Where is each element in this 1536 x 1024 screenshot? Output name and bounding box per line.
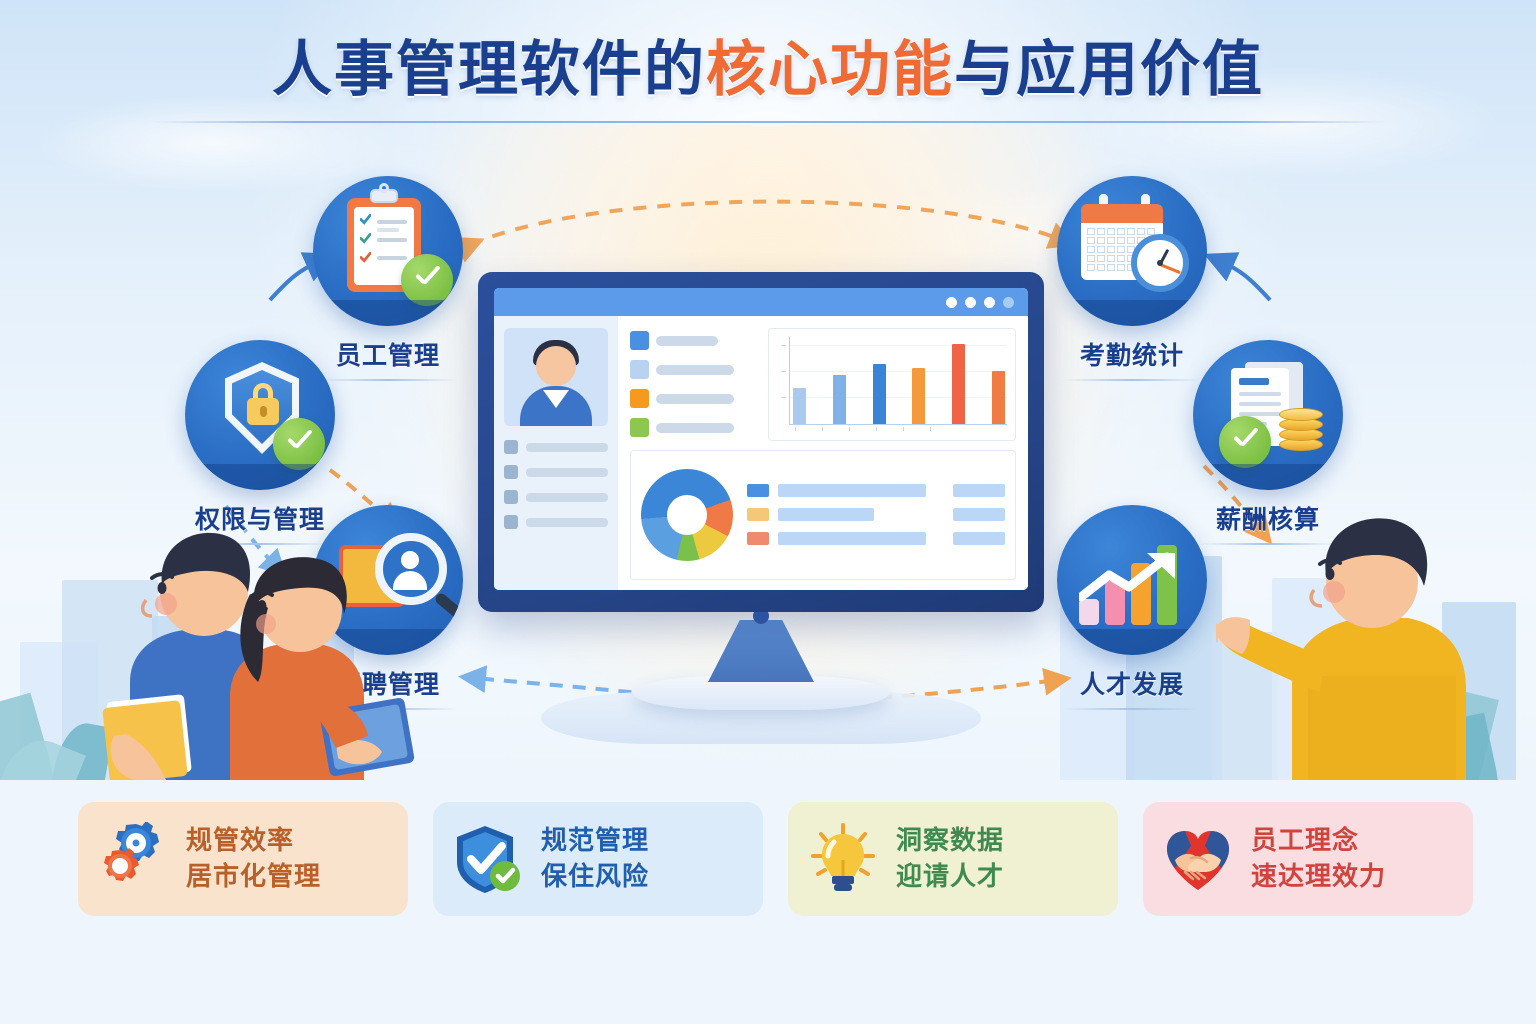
bar-2 [833,375,846,424]
legend-row-4 [630,418,758,437]
growth-bar-arrow-icon [1057,505,1207,655]
benefit-card-text: 员工理念 速达理效力 [1251,825,1386,892]
x-tick [822,427,823,431]
data-table [747,484,1005,545]
calendar-day-cell [1117,228,1125,235]
sidebar-item-label [526,443,608,452]
green-check-badge-icon [401,254,453,306]
benefit-line-2: 居市化管理 [186,861,321,893]
sidebar-item-1[interactable] [504,440,608,454]
calendar-day-cell [1117,264,1125,271]
sidebar-bullet-icon [504,465,518,479]
calendar-day-cell [1097,264,1105,271]
benefit-card-efficiency[interactable]: 规管效率 居市化管理 [78,802,408,916]
stat-legend-list [630,328,758,441]
bar-chart-y-axis [789,337,790,425]
title-highlight: 核心功能 [706,36,954,103]
row-cell-primary [778,484,926,497]
calendar-day-cell [1117,246,1125,253]
sidebar-item-4[interactable] [504,515,608,529]
bar-5 [952,344,965,423]
sidebar-item-3[interactable] [504,490,608,504]
legend-row-3 [630,389,758,408]
benefit-line-2: 保住风险 [541,861,649,893]
shield-lock-icon [185,340,335,490]
bar-chart [768,328,1016,441]
calendar-day-cell [1087,246,1095,253]
benefit-line-2: 速达理效力 [1251,861,1386,893]
title-part-2: 与应用价值 [954,36,1264,103]
person-male-yellow [1216,508,1484,788]
sidebar-bullet-icon [504,490,518,504]
row-cell-primary [778,532,926,545]
benefit-card-text: 洞察数据 迎请人才 [896,825,1004,892]
dashboard-screen [494,288,1028,590]
calendar-day-cell [1107,246,1115,253]
document-coins-icon [1193,340,1343,490]
benefit-line-2: 迎请人才 [896,861,1004,893]
avatar-head [536,346,576,386]
row-cell-primary [778,508,874,521]
monitor-stand [708,620,814,682]
legend-row-1 [630,331,758,350]
sidebar-item-label [526,468,608,477]
benefit-card-list: 规管效率 居市化管理 规范管理 保住风险 [78,802,1473,916]
legend-row-2 [630,360,758,379]
x-tick [795,427,796,431]
green-check-badge-icon [1219,416,1271,468]
window-titlebar [494,288,1028,316]
calendar-day-cell [1097,228,1105,235]
sidebar-bullet-icon [504,440,518,454]
table-row [747,508,1005,521]
calendar-day-cell [1107,264,1115,271]
benefit-card-text: 规管效率 居市化管理 [186,825,321,892]
row-cell-value [953,532,1005,545]
avatar [504,328,608,426]
legend-swatch-icon [630,389,649,408]
window-dot-1[interactable] [946,297,957,308]
calendar-day-cell [1097,255,1105,262]
legend-label [656,423,734,433]
bar-6 [992,371,1005,423]
shield-check-icon [451,822,525,896]
calendar-day-cell [1107,255,1115,262]
row-status-swatch [747,532,769,545]
benefit-line-1: 规管效率 [186,825,321,857]
benefit-card-compliance[interactable]: 规范管理 保住风险 [433,802,763,916]
row-cell-value [953,508,1005,521]
x-tick [930,427,931,431]
calendar-day-cell [1097,246,1105,253]
legend-label [656,394,734,404]
donut-chart [641,469,733,561]
page-title: 人事管理软件的核心功能与应用价值 [0,38,1536,101]
calendar-day-cell [1087,237,1095,244]
title-part-1: 人事管理软件的 [272,36,706,103]
desktop-monitor [478,272,1044,742]
table-row [747,532,1005,545]
calendar-day-cell [1087,255,1095,262]
calendar-day-cell [1087,264,1095,271]
growth-arrow-icon [1079,551,1183,603]
bar-3 [873,364,886,423]
calendar-clock-icon [1057,176,1207,326]
calendar-day-cell [1107,237,1115,244]
calendar-day-cell [1087,228,1095,235]
dashboard-body [494,316,1028,590]
calendar-day-cell [1107,228,1115,235]
benefit-line-1: 洞察数据 [896,825,1004,857]
legend-label [656,336,718,346]
benefit-card-engagement[interactable]: 员工理念 速达理效力 [1143,802,1473,916]
bar-4 [912,368,925,424]
benefit-line-1: 规范管理 [541,825,649,857]
title-block: 人事管理软件的核心功能与应用价值 [0,38,1536,123]
window-dot-4[interactable] [1003,297,1014,308]
sidebar-item-label [526,493,608,502]
sidebar-menu [504,440,608,529]
dashboard-main [618,316,1028,590]
sidebar-bullet-icon [504,515,518,529]
calendar-day-cell [1117,237,1125,244]
sidebar-item-2[interactable] [504,465,608,479]
monitor-bezel [478,272,1044,612]
person-female-orange [196,548,426,784]
dashboard-sidebar [494,316,618,590]
legend-label [656,365,734,375]
dashboard-upper-row [630,328,1016,441]
benefits-banner: 规管效率 居市化管理 规范管理 保住风险 [0,780,1536,1024]
title-divider [150,121,1386,123]
x-tick [849,427,850,431]
legend-swatch-icon [630,360,649,379]
row-status-swatch [747,484,769,497]
feature-node-label: 人才发展 [1032,665,1232,701]
dashboard-lower-row [630,450,1016,581]
legend-swatch-icon [630,418,649,437]
benefit-card-talent[interactable]: 洞察数据 迎请人才 [788,802,1118,916]
x-tick [903,427,904,431]
infographic-canvas: 人事管理软件的核心功能与应用价值 [0,0,1536,1024]
calendar-day-cell [1097,237,1105,244]
clipboard-checklist-icon [313,176,463,326]
benefit-card-text: 规范管理 保住风险 [541,825,649,892]
heart-handshake-icon [1161,822,1235,896]
gears-icon [96,822,170,896]
green-check-badge-icon [273,418,325,470]
window-dot-2[interactable] [965,297,976,308]
lightbulb-icon [806,822,880,896]
row-status-swatch [747,508,769,521]
table-row [747,484,1005,497]
calendar-day-cell [1137,228,1145,235]
row-cell-value [953,484,1005,497]
bar-chart-bars [793,339,1005,424]
sidebar-item-label [526,518,608,527]
legend-swatch-icon [630,331,649,350]
window-dot-3[interactable] [984,297,995,308]
calendar-day-cell [1117,255,1125,262]
calendar-day-cell [1127,237,1135,244]
calendar-day-cell [1127,228,1135,235]
bar-chart-x-axis [789,424,1007,425]
bar-1 [793,388,806,423]
x-tick [876,427,877,431]
benefit-line-1: 员工理念 [1251,825,1386,857]
feature-node-talent-development[interactable]: 人才发展 [1032,505,1232,710]
